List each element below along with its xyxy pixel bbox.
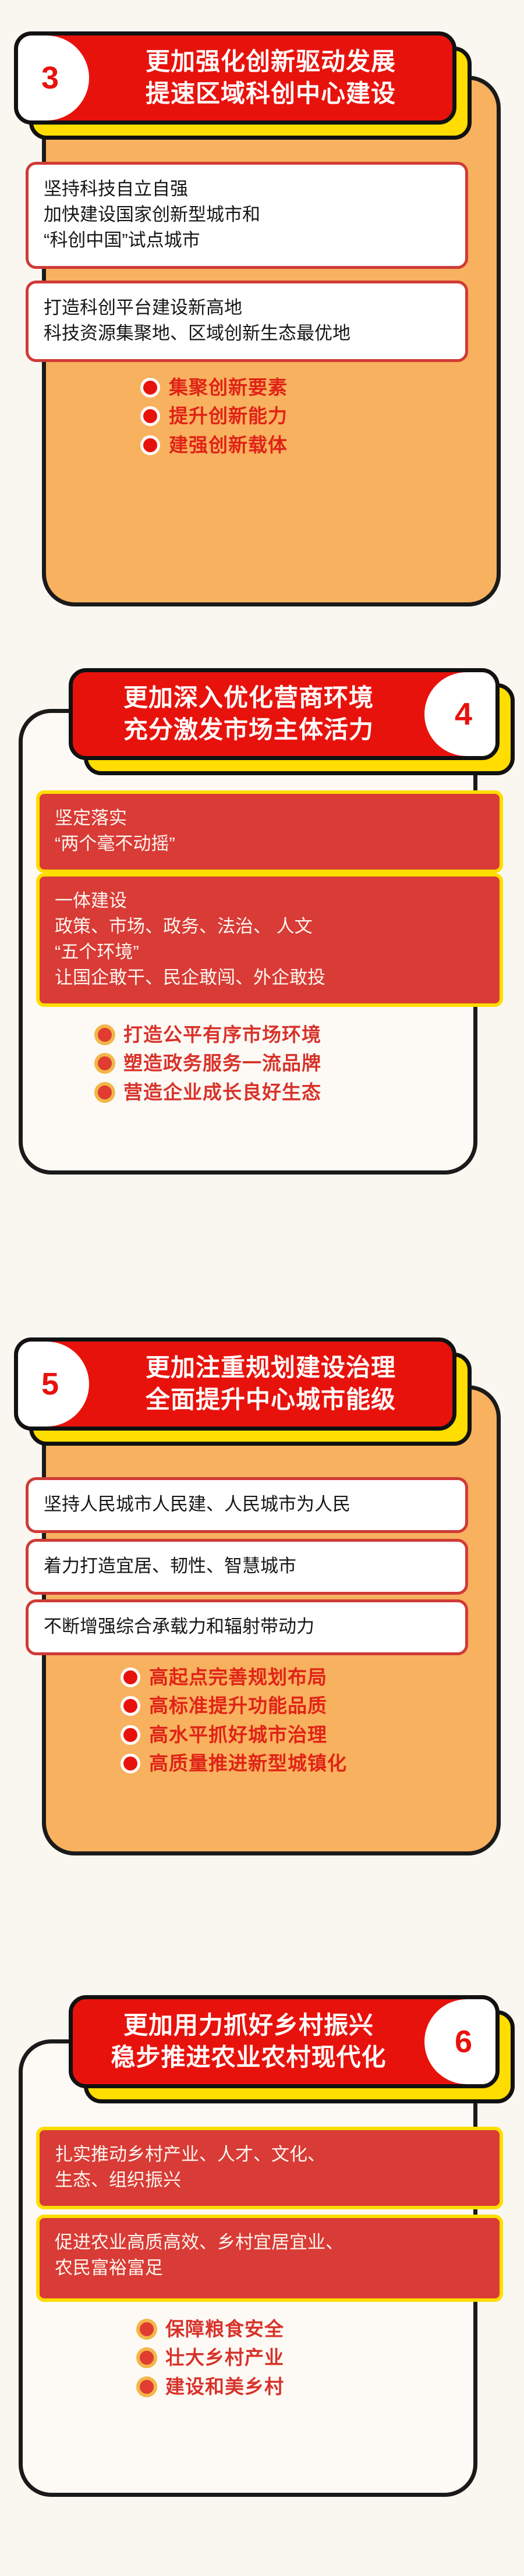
section-5: 5更加注重规划建设治理 全面提升中心城市能级坚持人民城市人民建、人民城市为人民着… (0, 1310, 524, 1950)
header-plate: 3更加强化创新驱动发展 提速区域科创中心建设 (14, 31, 456, 125)
bullet-label: 高标准提升功能品质 (149, 1695, 327, 1716)
section-6: 6更加用力抓好乡村振兴 稳步推进农业农村现代化扎实推动乡村产业、人才、文化、 生… (0, 1950, 524, 2576)
bullet-dot-icon (140, 2380, 154, 2394)
section-5-text-box: 不断增强综合承载力和辐射带动力 (26, 1599, 468, 1655)
section-4-header: 4更加深入优化营商环境 充分激发市场主体活力 (69, 668, 500, 760)
section-6-bullet-list: 保障粮食安全壮大乡村产业建设和美乡村 (140, 2319, 284, 2397)
bullet-label: 打造公平有序市场环境 (123, 1024, 321, 1045)
section-4-text-box: 一体建设 政策、市场、政务、法治、 人文 “五个环境” 让国企敢干、民企敢闯、外… (36, 873, 503, 1007)
bullet-item: 塑造政务服务一流品牌 (98, 1053, 321, 1074)
bullet-dot-icon (143, 438, 157, 452)
section-5-text-box: 着力打造宜居、韧性、智慧城市 (26, 1539, 468, 1595)
bullet-dot-icon (123, 1728, 137, 1742)
bullet-label: 壮大乡村产业 (165, 2347, 284, 2368)
bullet-item: 壮大乡村产业 (140, 2347, 284, 2368)
section-3-text-box: 坚持科技自立自强 加快建设国家创新型城市和 “科创中国”试点城市 (26, 162, 468, 269)
bullet-dot-icon (98, 1056, 112, 1070)
bullet-label: 高质量推进新型城镇化 (149, 1753, 347, 1774)
header-plate: 4更加深入优化营商环境 充分激发市场主体活力 (69, 668, 500, 760)
section-4: 4更加深入优化营商环境 充分激发市场主体活力坚定落实 “两个毫不动摇”一体建设 … (0, 640, 524, 1280)
infographic-page: 3更加强化创新驱动发展 提速区域科创中心建设坚持科技自立自强 加快建设国家创新型… (0, 0, 524, 2576)
bullet-item: 高标准提升功能品质 (123, 1695, 347, 1716)
section-3-header: 3更加强化创新驱动发展 提速区域科创中心建设 (14, 31, 456, 125)
section-number-badge: 4 (424, 672, 498, 756)
bullet-item: 集聚创新要素 (143, 377, 288, 398)
bullet-item: 建强创新载体 (143, 435, 288, 456)
section-title: 更加强化创新驱动发展 提速区域科创中心建设 (89, 46, 452, 109)
section-6-header: 6更加用力抓好乡村振兴 稳步推进农业农村现代化 (69, 1995, 500, 2088)
bullet-label: 高水平抓好城市治理 (149, 1725, 327, 1745)
bullet-dot-icon (123, 1670, 137, 1684)
bullet-dot-icon (123, 1699, 137, 1713)
bullet-dot-icon (140, 2351, 154, 2365)
section-5-bullet-list: 高起点完善规划布局高标准提升功能品质高水平抓好城市治理高质量推进新型城镇化 (123, 1667, 347, 1774)
section-number-badge: 5 (16, 1342, 89, 1427)
bullet-item: 营造企业成长良好生态 (98, 1082, 321, 1103)
bullet-dot-icon (98, 1028, 112, 1042)
section-6-text-box: 促进农业高质高效、乡村宜居宜业、 农民富裕富足 (36, 2215, 503, 2302)
bullet-label: 建强创新载体 (169, 435, 288, 456)
bullet-label: 高起点完善规划布局 (149, 1667, 327, 1688)
bullet-label: 塑造政务服务一流品牌 (123, 1053, 321, 1074)
header-plate: 5更加注重规划建设治理 全面提升中心城市能级 (14, 1337, 456, 1431)
bullet-dot-icon (140, 2322, 154, 2336)
section-title: 更加注重规划建设治理 全面提升中心城市能级 (89, 1352, 452, 1415)
section-number-badge: 3 (16, 36, 89, 120)
bullet-label: 建设和美乡村 (165, 2376, 284, 2397)
bullet-item: 建设和美乡村 (140, 2376, 284, 2397)
bullet-item: 提升创新能力 (143, 406, 288, 427)
section-3: 3更加强化创新驱动发展 提速区域科创中心建设坚持科技自立自强 加快建设国家创新型… (0, 0, 524, 640)
section-6-text-box: 扎实推动乡村产业、人才、文化、 生态、组织振兴 (36, 2127, 503, 2209)
section-number-badge: 6 (424, 1999, 498, 2084)
header-plate: 6更加用力抓好乡村振兴 稳步推进农业农村现代化 (69, 1995, 500, 2088)
bullet-item: 高质量推进新型城镇化 (123, 1753, 347, 1774)
bullet-label: 保障粮食安全 (165, 2319, 284, 2340)
bullet-dot-icon (123, 1757, 137, 1770)
bullet-label: 提升创新能力 (169, 406, 288, 427)
bullet-item: 打造公平有序市场环境 (98, 1024, 321, 1045)
section-3-bullet-list: 集聚创新要素提升创新能力建强创新载体 (143, 377, 288, 456)
section-4-text-box: 坚定落实 “两个毫不动摇” (36, 790, 503, 873)
bullet-label: 营造企业成长良好生态 (123, 1082, 321, 1103)
section-title: 更加用力抓好乡村振兴 稳步推进农业农村现代化 (73, 2010, 424, 2073)
bullet-label: 集聚创新要素 (169, 377, 288, 398)
section-4-bullet-list: 打造公平有序市场环境塑造政务服务一流品牌营造企业成长良好生态 (98, 1024, 321, 1103)
bullet-item: 保障粮食安全 (140, 2319, 284, 2340)
section-5-header: 5更加注重规划建设治理 全面提升中心城市能级 (14, 1337, 456, 1431)
bullet-dot-icon (143, 409, 157, 423)
section-3-text-box: 打造科创平台建设新高地 科技资源集聚地、区域创新生态最优地 (26, 281, 468, 362)
bullet-item: 高水平抓好城市治理 (123, 1725, 347, 1745)
section-5-text-box: 坚持人民城市人民建、人民城市为人民 (26, 1477, 468, 1533)
bullet-dot-icon (143, 381, 157, 395)
section-title: 更加深入优化营商环境 充分激发市场主体活力 (73, 682, 424, 746)
bullet-dot-icon (98, 1085, 112, 1099)
bullet-item: 高起点完善规划布局 (123, 1667, 347, 1688)
